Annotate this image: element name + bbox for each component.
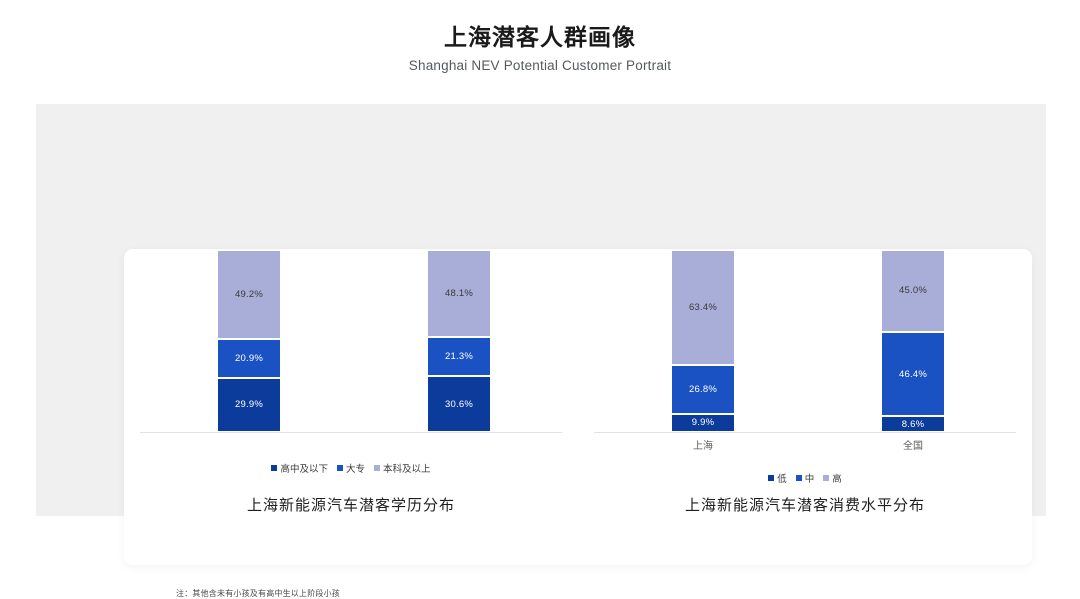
legend-item[interactable]: 高 xyxy=(823,471,842,485)
legend-item[interactable]: 大专 xyxy=(337,461,365,475)
footnote: 注：其他含未有小孩及有高中生以上阶段小孩 xyxy=(176,588,340,599)
legend-label: 高中及以下 xyxy=(280,461,328,475)
legend-swatch-icon xyxy=(823,475,829,481)
x-axis-line xyxy=(594,432,1016,433)
plot-area-consumption: 63.4% 26.8% 9.9% 45.0% 46.4% 8.6% xyxy=(594,285,1016,433)
legend-label: 中 xyxy=(805,471,815,485)
bar-segment-high: 63.4% xyxy=(671,250,735,366)
stacked-bar[interactable]: 45.0% 46.4% 8.6% xyxy=(881,250,945,432)
bar-segment-mid: 21.3% xyxy=(427,337,491,376)
legend-consumption: 低 中 高 xyxy=(578,471,1032,485)
legend-swatch-icon xyxy=(337,465,343,471)
page-header: 上海潜客人群画像 Shanghai NEV Potential Customer… xyxy=(0,22,1080,76)
slide-page: 上海潜客人群画像 Shanghai NEV Potential Customer… xyxy=(0,0,1080,547)
charts-row: 49.2% 20.9% 29.9% 48.1% 21.3% 30.6% xyxy=(124,249,1032,565)
legend-item[interactable]: 本科及以上 xyxy=(374,461,431,475)
legend-item[interactable]: 低 xyxy=(768,471,787,485)
content-panel: 49.2% 20.9% 29.9% 48.1% 21.3% 30.6% xyxy=(36,104,1046,516)
x-axis-line xyxy=(140,432,562,433)
legend-item[interactable]: 中 xyxy=(796,471,815,485)
charts-card: 49.2% 20.9% 29.9% 48.1% 21.3% 30.6% xyxy=(124,249,1032,565)
stacked-bar[interactable]: 48.1% 21.3% 30.6% xyxy=(427,250,491,432)
legend-swatch-icon xyxy=(374,465,380,471)
category-axis-labels: 上海 全国 xyxy=(594,437,1016,453)
bar-segment-high: 49.2% xyxy=(217,250,281,340)
bar-segment-low: 8.6% xyxy=(881,416,945,432)
bar-segment-mid: 20.9% xyxy=(217,339,281,377)
legend-label: 本科及以上 xyxy=(383,461,431,475)
chart-education: 49.2% 20.9% 29.9% 48.1% 21.3% 30.6% xyxy=(124,249,578,565)
legend-education: 高中及以下 大专 本科及以上 xyxy=(124,461,578,475)
bar-segment-low: 29.9% xyxy=(217,378,281,433)
page-subtitle: Shanghai NEV Potential Customer Portrait xyxy=(0,56,1080,76)
legend-item[interactable]: 高中及以下 xyxy=(271,461,328,475)
bar-segment-high: 48.1% xyxy=(427,250,491,338)
bar-segment-high: 45.0% xyxy=(881,250,945,332)
legend-swatch-icon xyxy=(271,465,277,471)
chart-caption: 上海新能源汽车潜客学历分布 xyxy=(124,494,578,515)
chart-caption: 上海新能源汽车潜客消费水平分布 xyxy=(578,494,1032,515)
legend-swatch-icon xyxy=(768,475,774,481)
category-label: 全国 xyxy=(881,437,945,452)
legend-swatch-icon xyxy=(796,475,802,481)
bar-segment-mid: 26.8% xyxy=(671,365,735,414)
stacked-bar[interactable]: 49.2% 20.9% 29.9% xyxy=(217,250,281,432)
plot-area-education: 49.2% 20.9% 29.9% 48.1% 21.3% 30.6% xyxy=(140,285,562,433)
stacked-bar[interactable]: 63.4% 26.8% 9.9% xyxy=(671,250,735,432)
chart-consumption: 63.4% 26.8% 9.9% 45.0% 46.4% 8.6% 上海 全国 xyxy=(578,249,1032,565)
legend-label: 大专 xyxy=(346,461,365,475)
page-title: 上海潜客人群画像 xyxy=(0,22,1080,52)
bar-segment-low: 9.9% xyxy=(671,414,735,432)
legend-label: 低 xyxy=(777,471,787,485)
bar-segment-low: 30.6% xyxy=(427,376,491,432)
category-label: 上海 xyxy=(671,437,735,452)
bar-segment-mid: 46.4% xyxy=(881,332,945,417)
legend-label: 高 xyxy=(832,471,842,485)
